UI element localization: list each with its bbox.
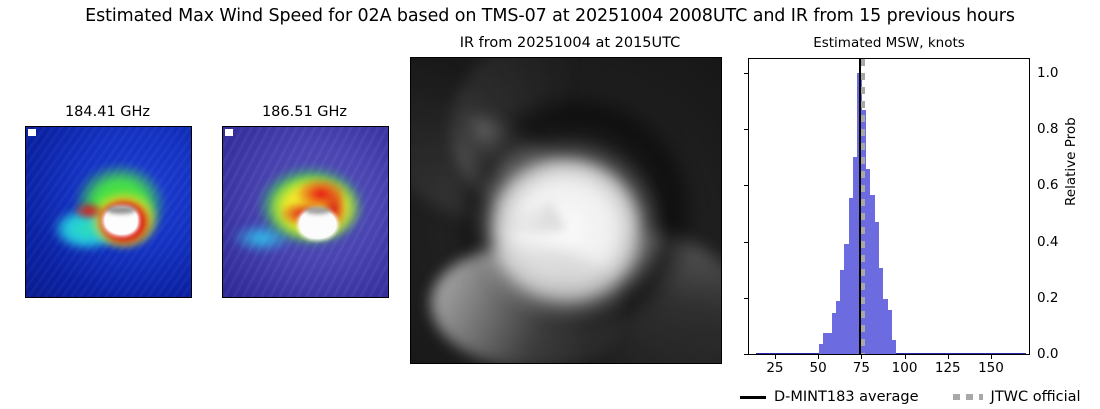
histogram-bar (892, 340, 896, 354)
jtwc-official-line (861, 59, 865, 354)
x-tick (818, 354, 819, 359)
x-tick (991, 354, 992, 359)
x-tick (905, 354, 906, 359)
ir-panel-title: IR from 20251004 at 2015UTC (410, 35, 730, 51)
figure-canvas: Estimated Max Wind Speed for 02A based o… (0, 0, 1100, 409)
x-tick-label: 100 (892, 360, 918, 376)
x-tick-label: 25 (766, 360, 783, 376)
y-tick (744, 242, 749, 243)
y-tick-label: 1.0 (1037, 65, 1058, 81)
y-tick (744, 354, 749, 355)
microwave-186ghz-image (223, 127, 388, 297)
legend-label-official: JTWC official (991, 389, 1081, 405)
y-tick-label: 0.4 (1037, 234, 1058, 250)
histogram-title: Estimated MSW, knots (748, 35, 1030, 51)
y-tick (744, 73, 749, 74)
panel-corner-marker (28, 129, 36, 136)
legend: D-MINT183 average JTWC official (740, 386, 1100, 408)
histogram-axes: 255075100125150 0.00.20.40.60.81.0 (748, 58, 1030, 355)
page-title: Estimated Max Wind Speed for 02A based o… (0, 6, 1100, 26)
x-tick-label: 125 (935, 360, 961, 376)
y-tick-label: 0.0 (1037, 346, 1058, 362)
x-tick-label: 50 (810, 360, 827, 376)
panel-corner-marker (225, 129, 233, 136)
y-axis-label: Relative Prob (1063, 117, 1079, 206)
histogram-plot-area (749, 59, 1029, 354)
x-tick-label: 150 (978, 360, 1004, 376)
dmint183-average-line (859, 59, 861, 354)
y-tick (744, 298, 749, 299)
microwave-184ghz-image (26, 127, 191, 297)
microwave-1-title: 184.41 GHz (25, 104, 190, 120)
y-tick-label: 0.8 (1037, 121, 1058, 137)
solid-line-icon (740, 396, 766, 399)
microwave-186ghz-panel (222, 126, 389, 298)
y-tick-label: 0.6 (1037, 177, 1058, 193)
y-tick-label: 0.2 (1037, 290, 1058, 306)
ir-satellite-panel (410, 57, 722, 364)
legend-item-official: JTWC official (953, 389, 1081, 405)
x-tick (861, 354, 862, 359)
legend-item-average: D-MINT183 average (740, 389, 919, 405)
ir-satellite-image (411, 58, 721, 363)
microwave-184ghz-panel (25, 126, 192, 298)
x-tick (775, 354, 776, 359)
microwave-2-title: 186.51 GHz (222, 104, 387, 120)
x-tick-label: 75 (853, 360, 870, 376)
x-tick (948, 354, 949, 359)
y-tick (744, 185, 749, 186)
dashed-line-icon (953, 394, 983, 400)
legend-label-average: D-MINT183 average (774, 389, 919, 405)
y-tick (744, 129, 749, 130)
